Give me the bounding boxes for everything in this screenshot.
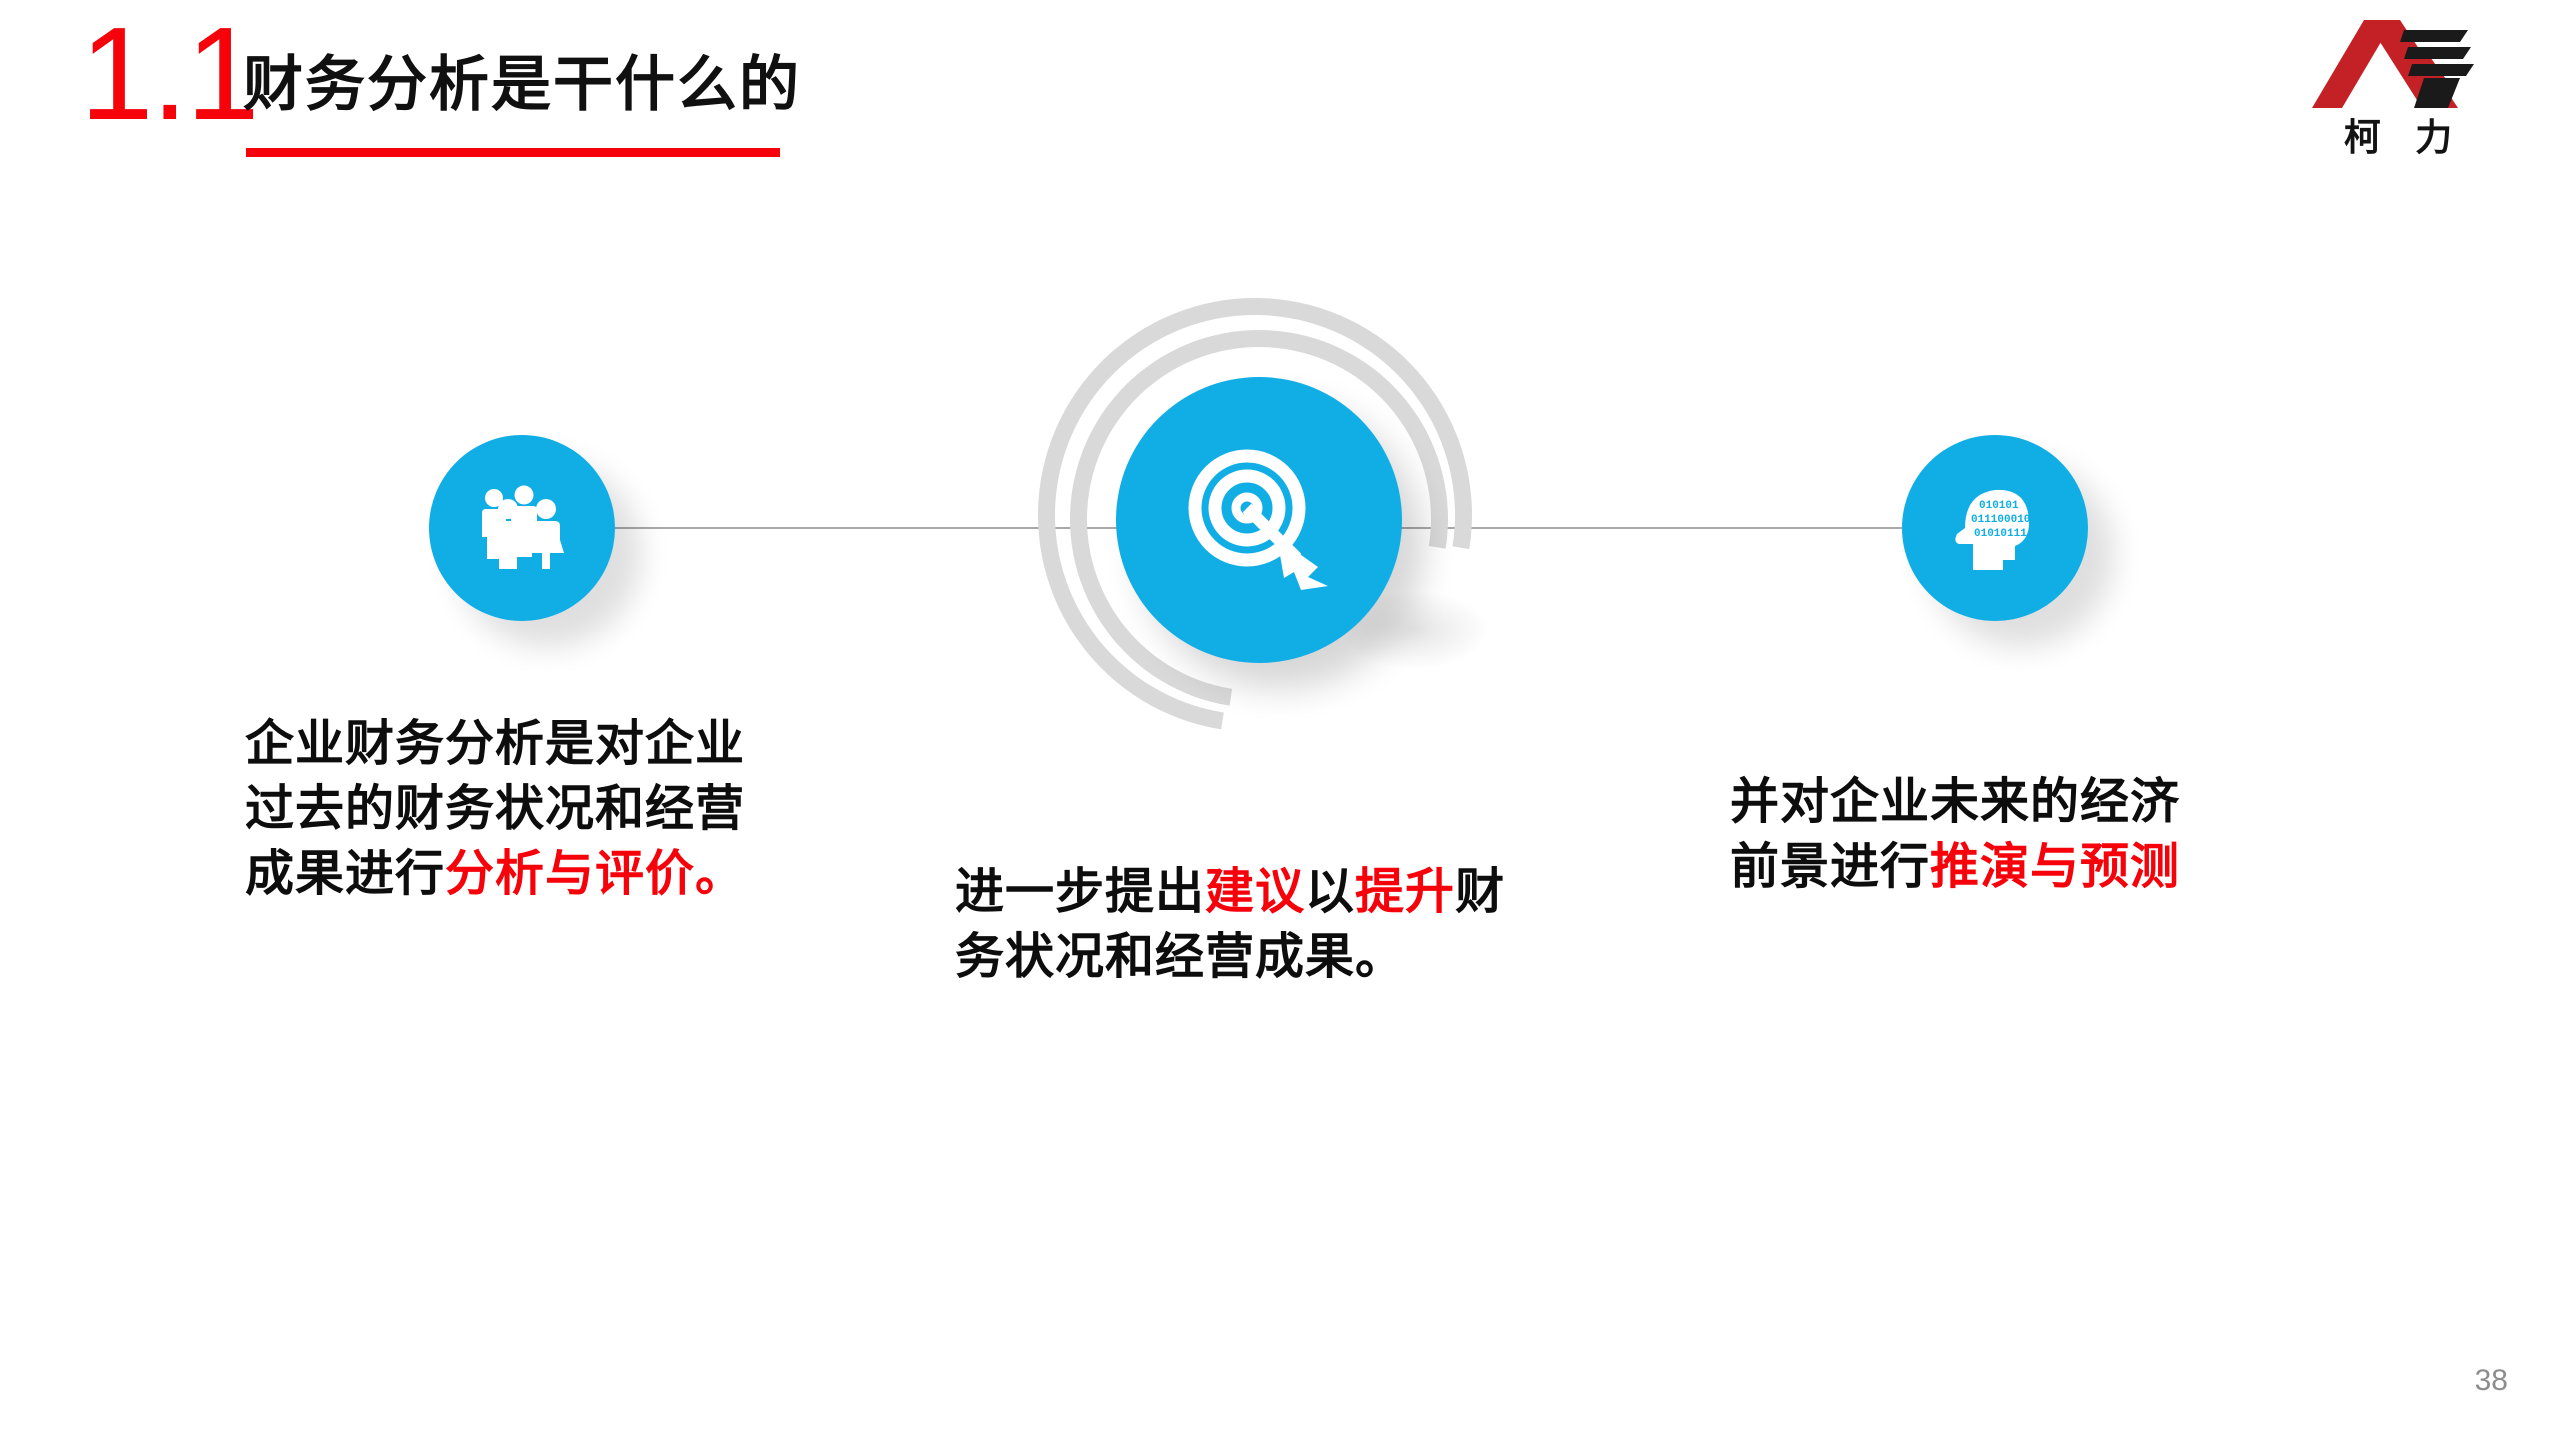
highlighted-text: 推演与预测	[1930, 840, 2180, 894]
slide-canvas: 1.1 财务分析是干什么的 柯 力	[0, 0, 2560, 1440]
svg-text:01010111: 01010111	[1974, 528, 2027, 540]
keli-k-logo-icon	[2308, 14, 2488, 118]
text-line: 前景进行推演与预测	[1730, 835, 2370, 900]
slide-header: 1.1 财务分析是干什么的	[0, 0, 2560, 200]
text-line: 过去的财务状况和经营	[245, 777, 825, 842]
title-underline	[246, 148, 780, 157]
highlighted-text: 提升	[1355, 865, 1455, 919]
text-block-right: 并对企业未来的经济前景进行推演与预测	[1730, 770, 2370, 900]
people-group-icon	[476, 485, 568, 571]
text-line: 进一步提出建议以提升财	[955, 860, 1595, 925]
node-target-goal[interactable]	[1116, 377, 1402, 663]
head-binary-icon: 010101 011100010 01010111	[1945, 480, 2045, 576]
svg-text:010101: 010101	[1979, 500, 2019, 512]
text-block-left: 企业财务分析是对企业过去的财务状况和经营成果进行分析与评价。	[245, 712, 825, 907]
text-line: 成果进行分析与评价。	[245, 842, 825, 907]
plain-text: 进一步提出	[955, 865, 1205, 919]
plain-text: 务状况和经营成果。	[955, 930, 1405, 984]
node-head-binary[interactable]: 010101 011100010 01010111	[1902, 435, 2088, 621]
node-people-group[interactable]	[429, 435, 615, 621]
highlighted-text: 建议	[1205, 865, 1305, 919]
plain-text: 前景进行	[1730, 840, 1930, 894]
process-diagram: 010101 011100010 01010111	[0, 250, 2560, 730]
plain-text: 成果进行	[245, 847, 445, 901]
svg-text:011100010: 011100010	[1971, 514, 2030, 526]
page-number: 38	[2475, 1364, 2508, 1398]
section-number: 1.1	[80, 8, 258, 140]
plain-text: 过去的财务状况和经营	[245, 782, 745, 836]
highlighted-text: 。	[695, 847, 745, 901]
text-line: 务状况和经营成果。	[955, 925, 1595, 990]
plain-text: 并对企业未来的经济	[1730, 775, 2180, 829]
plain-text: 以	[1305, 865, 1355, 919]
plain-text: 财	[1455, 865, 1505, 919]
highlighted-text: 分析与评价	[445, 847, 695, 901]
logo-wordmark: 柯 力	[2308, 118, 2488, 159]
company-logo: 柯 力	[2308, 14, 2488, 172]
text-line: 并对企业未来的经济	[1730, 770, 2370, 835]
plain-text: 企业财务分析是对企业	[245, 717, 745, 771]
text-block-center: 进一步提出建议以提升财务状况和经营成果。	[955, 860, 1595, 990]
text-line: 企业财务分析是对企业	[245, 712, 825, 777]
page-title: 财务分析是干什么的	[243, 55, 801, 115]
target-arrow-icon	[1184, 445, 1334, 595]
